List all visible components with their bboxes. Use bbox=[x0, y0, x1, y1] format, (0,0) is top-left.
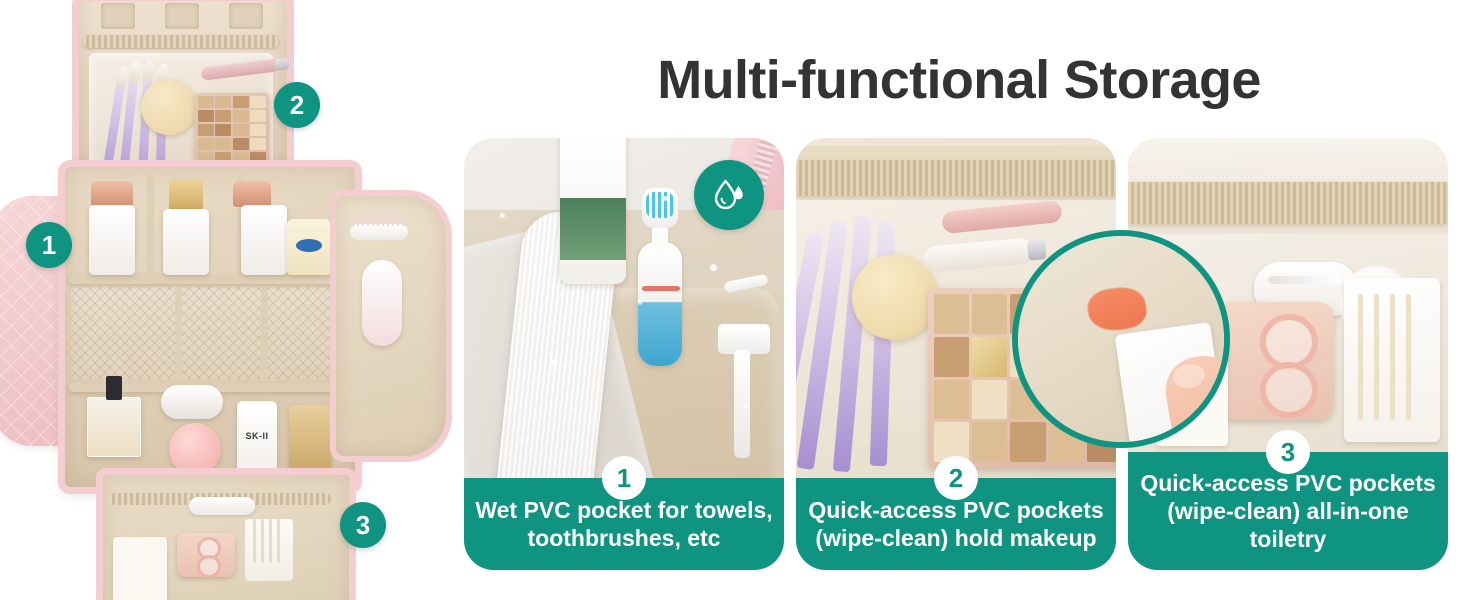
hair-comb bbox=[350, 224, 408, 240]
bottle-label bbox=[560, 198, 626, 260]
rose-gold-cap bbox=[91, 181, 133, 207]
hero-marker-3: 3 bbox=[340, 502, 386, 548]
lid-strap bbox=[165, 3, 199, 29]
right-side-pocket bbox=[330, 190, 452, 462]
toothbrush-ring bbox=[642, 286, 680, 291]
vertical-divider bbox=[175, 287, 182, 381]
panel-number: 3 bbox=[1281, 439, 1295, 465]
tweezer-case bbox=[189, 497, 255, 515]
zipper bbox=[1128, 182, 1448, 224]
water-drop-icon bbox=[694, 160, 764, 230]
caption-text: Quick-access PVC pockets (wipe-clean) ho… bbox=[798, 496, 1113, 552]
page-title: Multi-functional Storage bbox=[464, 40, 1454, 120]
panel-number: 2 bbox=[949, 465, 963, 491]
hero-marker-1: 1 bbox=[26, 222, 72, 268]
cosmetic-bottle bbox=[89, 205, 135, 275]
mesh-pocket bbox=[71, 287, 337, 379]
feature-panel-1[interactable]: 1 Wet PVC pocket for towels, toothbrushe… bbox=[464, 138, 784, 570]
pvc-window bbox=[89, 53, 273, 165]
razor-handle bbox=[734, 350, 750, 458]
perfume-bottle bbox=[87, 397, 141, 457]
lip-gloss bbox=[200, 58, 279, 80]
toothbrush-bristles bbox=[646, 192, 674, 218]
cotton-swab-pack bbox=[1344, 278, 1440, 442]
caption-line: (wipe-clean) hold makeup bbox=[815, 525, 1096, 551]
cosmetic-bottle bbox=[163, 209, 209, 275]
inset-photo bbox=[1018, 236, 1224, 442]
hero-product-photo: SK-II 1 2 3 bbox=[0, 0, 460, 600]
caption-line: (wipe-clean) all-in-one bbox=[1167, 498, 1409, 524]
hero-marker-label: 2 bbox=[290, 92, 304, 118]
hero-marker-2: 2 bbox=[274, 82, 320, 128]
toothbrush-handle bbox=[638, 242, 682, 366]
razor bbox=[714, 278, 772, 468]
caption-line: toothbrushes, etc bbox=[528, 525, 721, 551]
cotton-swab-pack bbox=[245, 519, 293, 581]
lid-strap bbox=[101, 3, 135, 29]
bag-main-compartment: SK-II bbox=[58, 160, 362, 494]
caption-line: toiletry bbox=[1250, 526, 1327, 552]
gold-serum-jar bbox=[289, 405, 331, 473]
cosmetic-bottle bbox=[241, 205, 287, 275]
wipe-clean-inset bbox=[1012, 230, 1230, 448]
contact-lens-case bbox=[1218, 302, 1334, 420]
vaseline-tube bbox=[287, 219, 331, 275]
caption-text: Wet PVC pocket for towels, toothbrushes,… bbox=[465, 496, 782, 552]
eyeshadow-palette bbox=[195, 93, 269, 167]
lid-strap bbox=[229, 3, 263, 29]
paper-insert bbox=[113, 537, 167, 600]
foam-cleanser-bottle bbox=[560, 138, 626, 284]
contact-lens-case bbox=[177, 533, 235, 577]
infographic-canvas: SK-II 1 2 3 bbox=[0, 0, 1464, 600]
vertical-divider bbox=[261, 287, 268, 381]
powder-puff bbox=[852, 254, 938, 340]
caption-line: Wet PVC pocket for towels, bbox=[475, 497, 772, 523]
hero-marker-label: 3 bbox=[356, 512, 370, 538]
brush-tip bbox=[143, 59, 155, 82]
powder-puff bbox=[141, 79, 197, 135]
serum-bottle: SK-II bbox=[237, 401, 277, 475]
hero-bag-illustration: SK-II 1 2 3 bbox=[0, 0, 460, 600]
zipper bbox=[796, 160, 1116, 196]
feature-panels: 1 Wet PVC pocket for towels, toothbrushe… bbox=[464, 138, 1454, 570]
panel-2-number-badge: 2 bbox=[934, 456, 978, 500]
serum-label: SK-II bbox=[237, 431, 277, 441]
electric-toothbrush bbox=[630, 194, 692, 366]
bag-bottom-pocket bbox=[96, 468, 356, 600]
zipper bbox=[83, 35, 279, 48]
rose-gold-cap bbox=[233, 181, 271, 207]
compact-powder bbox=[161, 385, 223, 419]
panel-number: 1 bbox=[617, 465, 631, 491]
hero-marker-label: 1 bbox=[42, 232, 56, 258]
panel-3-number-badge: 3 bbox=[1266, 430, 1310, 474]
panel-1-number-badge: 1 bbox=[602, 456, 646, 500]
brush-tip bbox=[129, 61, 142, 84]
gold-cap bbox=[169, 179, 203, 211]
bag-top-lid bbox=[72, 0, 294, 186]
caption-line: Quick-access PVC pockets bbox=[808, 497, 1103, 523]
hair-brush bbox=[362, 260, 402, 346]
shelf-divider bbox=[69, 275, 337, 284]
vertical-divider bbox=[147, 175, 154, 275]
caption-text: Quick-access PVC pockets (wipe-clean) al… bbox=[1130, 469, 1445, 553]
